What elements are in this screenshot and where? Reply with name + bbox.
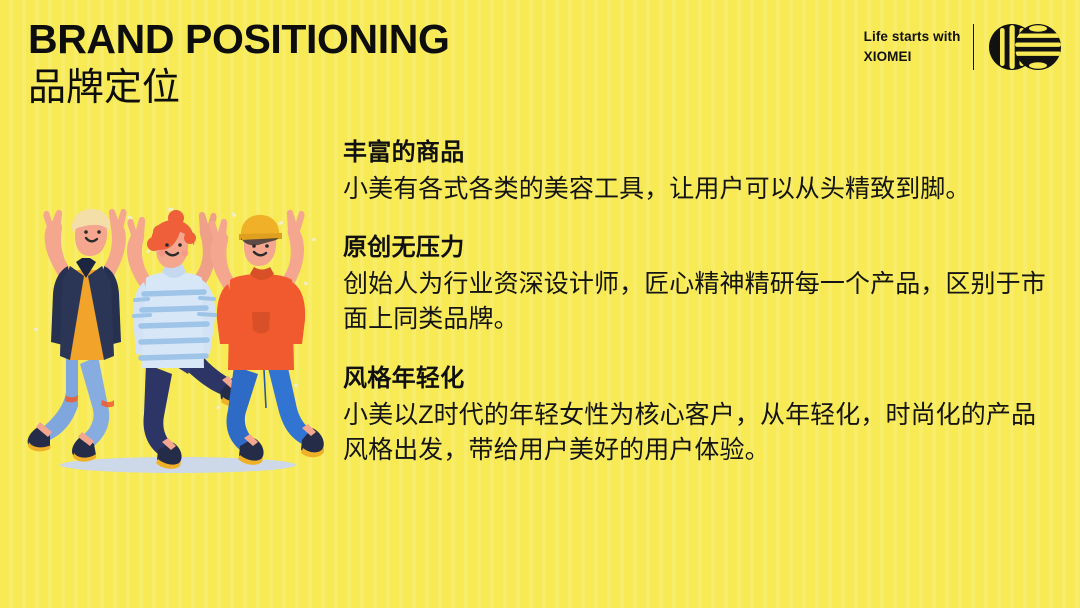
person-left (28, 209, 127, 462)
content-column: 丰富的商品 小美有各式各类的美容工具，让用户可以从头精致到脚。 原创无压力 创始… (343, 138, 1048, 469)
section-heading: 风格年轻化 (343, 364, 1048, 395)
section-body: 小美以Z时代的年轻女性为核心客户，从年轻化，时尚化的产品风格出发，带给用户美好的… (343, 398, 1048, 469)
section-item: 原创无压力 创始人为行业资深设计师，匠心精神精研每一个产品，区别于市面上同类品牌… (343, 233, 1048, 338)
section-item: 风格年轻化 小美以Z时代的年轻女性为核心客户，从年轻化，时尚化的产品风格出发，带… (343, 364, 1048, 469)
brand-lockup: Life starts with XIOMEI (864, 22, 1062, 72)
section-item: 丰富的商品 小美有各式各类的美容工具，让用户可以从头精致到脚。 (343, 138, 1048, 207)
brand-tagline-line-1: Life starts with (864, 27, 961, 47)
brand-divider (973, 24, 975, 70)
xiomei-logo-icon (988, 22, 1062, 72)
section-heading: 丰富的商品 (343, 138, 1048, 169)
section-heading: 原创无压力 (343, 233, 1048, 264)
brand-tagline-line-2: XIOMEI (864, 47, 961, 67)
slide-canvas: BRAND POSITIONING 品牌定位 Life starts with … (0, 0, 1080, 608)
title-english: BRAND POSITIONING (28, 18, 449, 62)
section-body: 小美有各式各类的美容工具，让用户可以从头精致到脚。 (343, 172, 1048, 208)
page-title: BRAND POSITIONING 品牌定位 (28, 18, 449, 111)
three-jumping-people-illustration (20, 178, 332, 490)
title-chinese: 品牌定位 (28, 66, 449, 111)
section-body: 创始人为行业资深设计师，匠心精神精研每一个产品，区别于市面上同类品牌。 (343, 267, 1048, 338)
person-right (209, 210, 324, 465)
brand-tagline: Life starts with XIOMEI (864, 27, 961, 66)
